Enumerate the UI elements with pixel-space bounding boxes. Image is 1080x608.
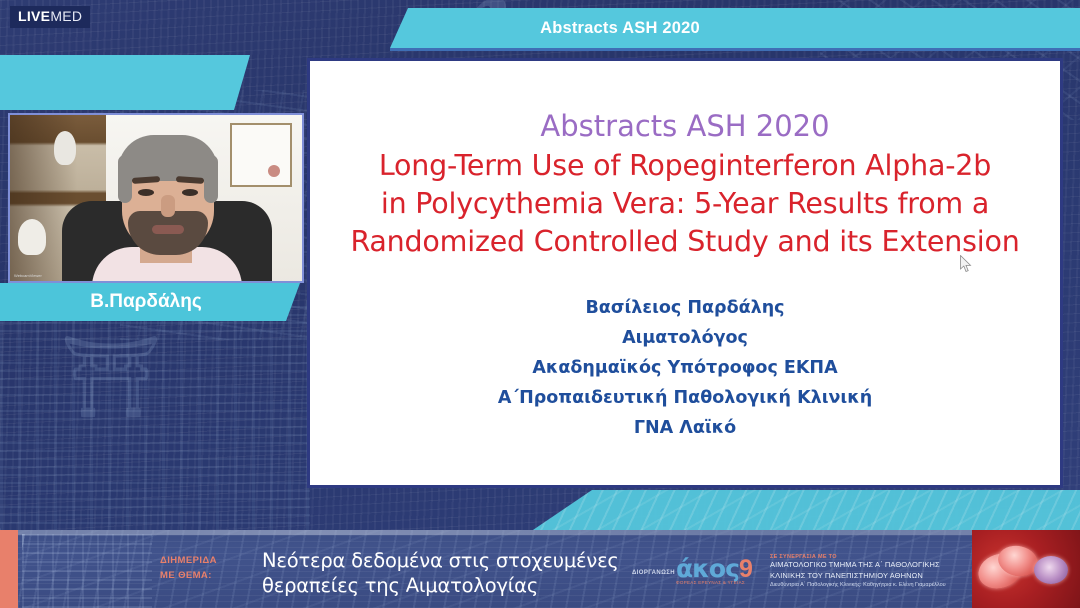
akos-logo-swirl-icon: 9: [739, 555, 753, 583]
livemed-logo: LIVEMED: [10, 6, 90, 28]
video-hair: [118, 135, 218, 181]
video-mouth: [152, 225, 184, 234]
presentation-slide[interactable]: Abstracts ASH 2020 Long-Term Use of Rope…: [307, 58, 1063, 488]
footer-cooperation-line-2: ΚΛΙΝΙΚΗΣ ΤΟΥ ΠΑΝΕΠΙΣΤΗΜΙΟΥ ΑΘΗΝΩΝ: [770, 571, 946, 582]
mouse-cursor-icon: [960, 255, 972, 273]
footer-cooperation-line-1: ΑΙΜΑΤΟΛΟΓΙΚΟ ΤΜΗΜΑ ΤΗΣ Α΄ ΠΑΘΟΛΟΓΙΚΗΣ: [770, 560, 946, 571]
slide-author-affiliation-2: Α΄Προπαιδευτική Παθολογική Κλινική: [336, 383, 1034, 413]
speaker-name-band: Β.Παρδάλης: [0, 283, 300, 321]
footer-cooperation-block: ΣΕ ΣΥΝΕΡΓΑΣΙΑ ΜΕ ΤΟ ΑΙΜΑΤΟΛΟΓΙΚΟ ΤΜΗΜΑ Τ…: [770, 554, 946, 590]
footer-theme-line-2: θεραπείες της Αιματολογίας: [262, 573, 622, 598]
speaker-name-label: Β.Παρδάλης: [90, 291, 201, 313]
akos-logo-subtitle: ΦΟΡΕΑΣ ΕΡΕΥΝΑΣ & ΥΓΕΙΑΣ: [676, 580, 753, 585]
footer-event-label: ΔΙΗΜΕΡΙΔΑ ΜΕ ΘΕΜΑ:: [160, 554, 260, 583]
video-hair-right: [204, 155, 218, 203]
slide-author-block: Βασίλειος Παρδάλης Αιματολόγος Ακαδημαϊκ…: [336, 293, 1034, 443]
top-banner: Abstracts ASH 2020: [390, 8, 1080, 48]
footer-architecture-icon: [22, 534, 152, 608]
slide-author-affiliation-1: Ακαδημαϊκός Υπότροφος ΕΚΠΑ: [336, 353, 1034, 383]
video-watermark: WebcamViewer: [14, 273, 42, 278]
video-wall-certificate: [230, 123, 292, 187]
akos-logo-text: άκος: [676, 554, 739, 583]
video-nose: [161, 195, 175, 217]
lower-accent-texture: [530, 490, 1080, 532]
top-banner-underline: [390, 48, 1080, 51]
broadcast-stage: ⚗ ⛩ LIVEMED Abstracts ASH 2020: [0, 0, 1080, 608]
video-eye-right: [182, 189, 198, 196]
video-bust-top: [54, 131, 76, 165]
left-accent-band: [0, 55, 250, 110]
lower-accent-band: [530, 490, 1080, 532]
slide-title-line-2: in Polycythemia Vera: 5-Year Results fro…: [336, 185, 1034, 223]
footer-event-label-line-1: ΔΙΗΜΕΡΙΔΑ: [160, 554, 260, 569]
footer-orange-strip: [0, 530, 18, 608]
footer-event-label-line-2: ΜΕ ΘΕΜΑ:: [160, 569, 260, 584]
slide-title-line-1: Long-Term Use of Ropeginterferon Alpha-2…: [336, 147, 1034, 185]
slide-title-line-3: Randomized Controlled Study and its Exte…: [336, 223, 1034, 261]
blood-cells-image: [972, 530, 1080, 608]
slide-author-name: Βασίλειος Παρδάλης: [336, 293, 1034, 323]
slide-author-role: Αιματολόγος: [336, 323, 1034, 353]
video-hair-left: [118, 155, 132, 203]
footer-theme-line-1: Νεότερα δεδομένα στις στοχευμένες: [262, 548, 622, 573]
speaker-video-frame: WebcamViewer: [10, 115, 302, 281]
footer-organizer-label: ΔΙΟΡΓΑΝΩΣΗ: [632, 570, 675, 576]
video-bust-bottom: [18, 219, 46, 255]
speaker-video[interactable]: WebcamViewer: [8, 113, 304, 283]
slide-title: Long-Term Use of Ropeginterferon Alpha-2…: [336, 147, 1034, 261]
footer-theme: Νεότερα δεδομένα στις στοχευμένες θεραπε…: [262, 548, 622, 599]
livemed-logo-bold: LIVE: [18, 8, 50, 24]
footer-top-divider: [0, 530, 1080, 535]
slide-eyebrow: Abstracts ASH 2020: [336, 109, 1034, 143]
slide-author-affiliation-3: ΓΝΑ Λαϊκό: [336, 413, 1034, 443]
top-banner-title: Abstracts ASH 2020: [540, 19, 700, 38]
livemed-logo-light: MED: [50, 8, 82, 24]
footer-cooperation-line-3: Διευθύντρια Α΄ Παθολογικής Κλινικής: Καθ…: [770, 581, 946, 589]
video-eye-left: [138, 189, 154, 196]
akos-logo: άκος9 ΦΟΡΕΑΣ ΕΡΕΥΝΑΣ & ΥΓΕΙΑΣ: [676, 554, 753, 585]
white-blood-cell: [1034, 556, 1068, 584]
